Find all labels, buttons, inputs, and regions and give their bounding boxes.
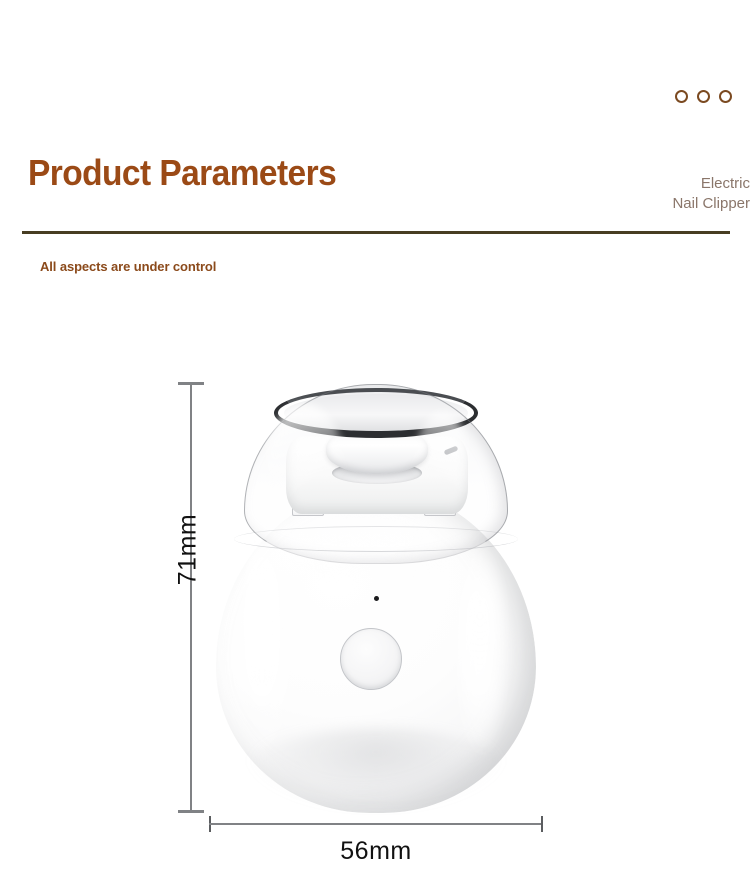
product-kicker-line-1: Electric (672, 174, 750, 194)
body-shadow-bottom (248, 728, 504, 808)
decor-dots-row (675, 90, 732, 103)
body-highlight-left (244, 528, 280, 728)
page-subtitle: All aspects are under control (40, 259, 216, 274)
circle-ring-icon (719, 90, 732, 103)
width-dimension-cap-right (541, 816, 543, 832)
dome-highlight-right (414, 412, 470, 522)
header-divider (22, 231, 730, 234)
product-kicker-line-2: Nail Clipper (672, 194, 750, 214)
width-dimension-label: 56mm (209, 837, 543, 866)
page-title: Product Parameters (28, 152, 336, 194)
product-kicker: Electric Nail Clipper (672, 174, 750, 214)
product-dimension-diagram: 71mm 56mm (0, 360, 750, 886)
circle-ring-icon (675, 90, 688, 103)
circle-ring-icon (697, 90, 710, 103)
height-dimension-label: 71mm (174, 490, 203, 610)
dome-highlight-left (266, 404, 344, 524)
product-image (208, 378, 544, 814)
power-button[interactable] (340, 628, 402, 690)
height-dimension-cap-bottom (178, 810, 204, 813)
led-indicator (374, 596, 379, 601)
width-dimension-line (209, 823, 543, 825)
body-highlight-right (460, 538, 500, 758)
